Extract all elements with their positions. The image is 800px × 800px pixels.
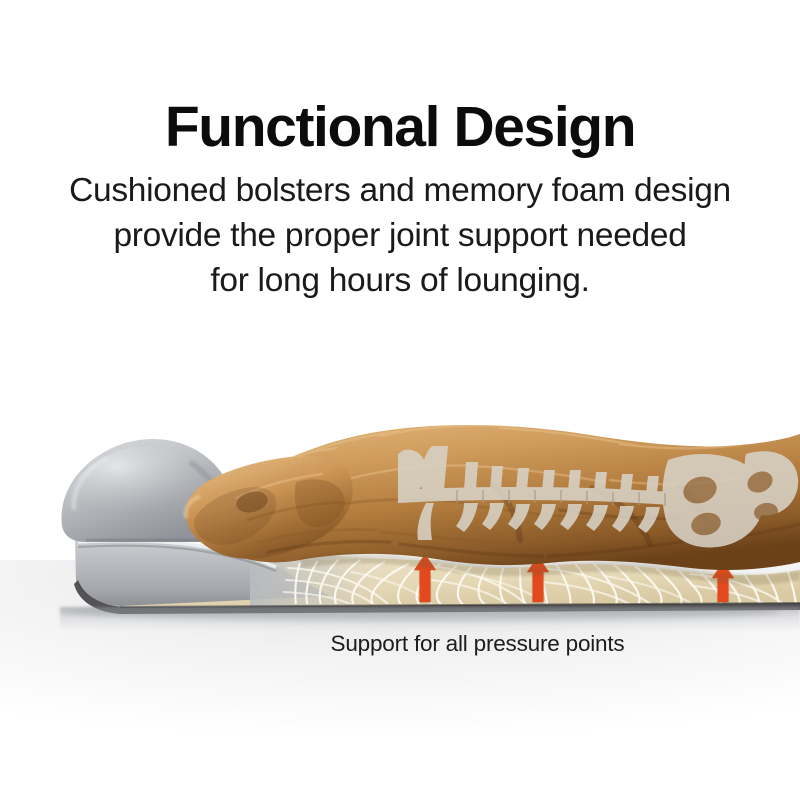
page-title: Functional Design <box>0 96 800 158</box>
product-feature-image: Functional Design Cushioned bolsters and… <box>0 0 800 800</box>
headline-block: Functional Design Cushioned bolsters and… <box>0 96 800 303</box>
sleeping-golden-retriever <box>186 425 800 570</box>
subtitle-line-1: Cushioned bolsters and memory foam desig… <box>0 168 800 213</box>
subtitle-block: Cushioned bolsters and memory foam desig… <box>0 168 800 303</box>
pressure-points-caption: Support for all pressure points <box>331 631 625 656</box>
subtitle-line-2: provide the proper joint support needed <box>0 213 800 258</box>
subtitle-line-3: for long hours of lounging. <box>0 258 800 303</box>
caption-block: Support for all pressure points <box>0 631 800 657</box>
product-illustration <box>0 390 800 650</box>
